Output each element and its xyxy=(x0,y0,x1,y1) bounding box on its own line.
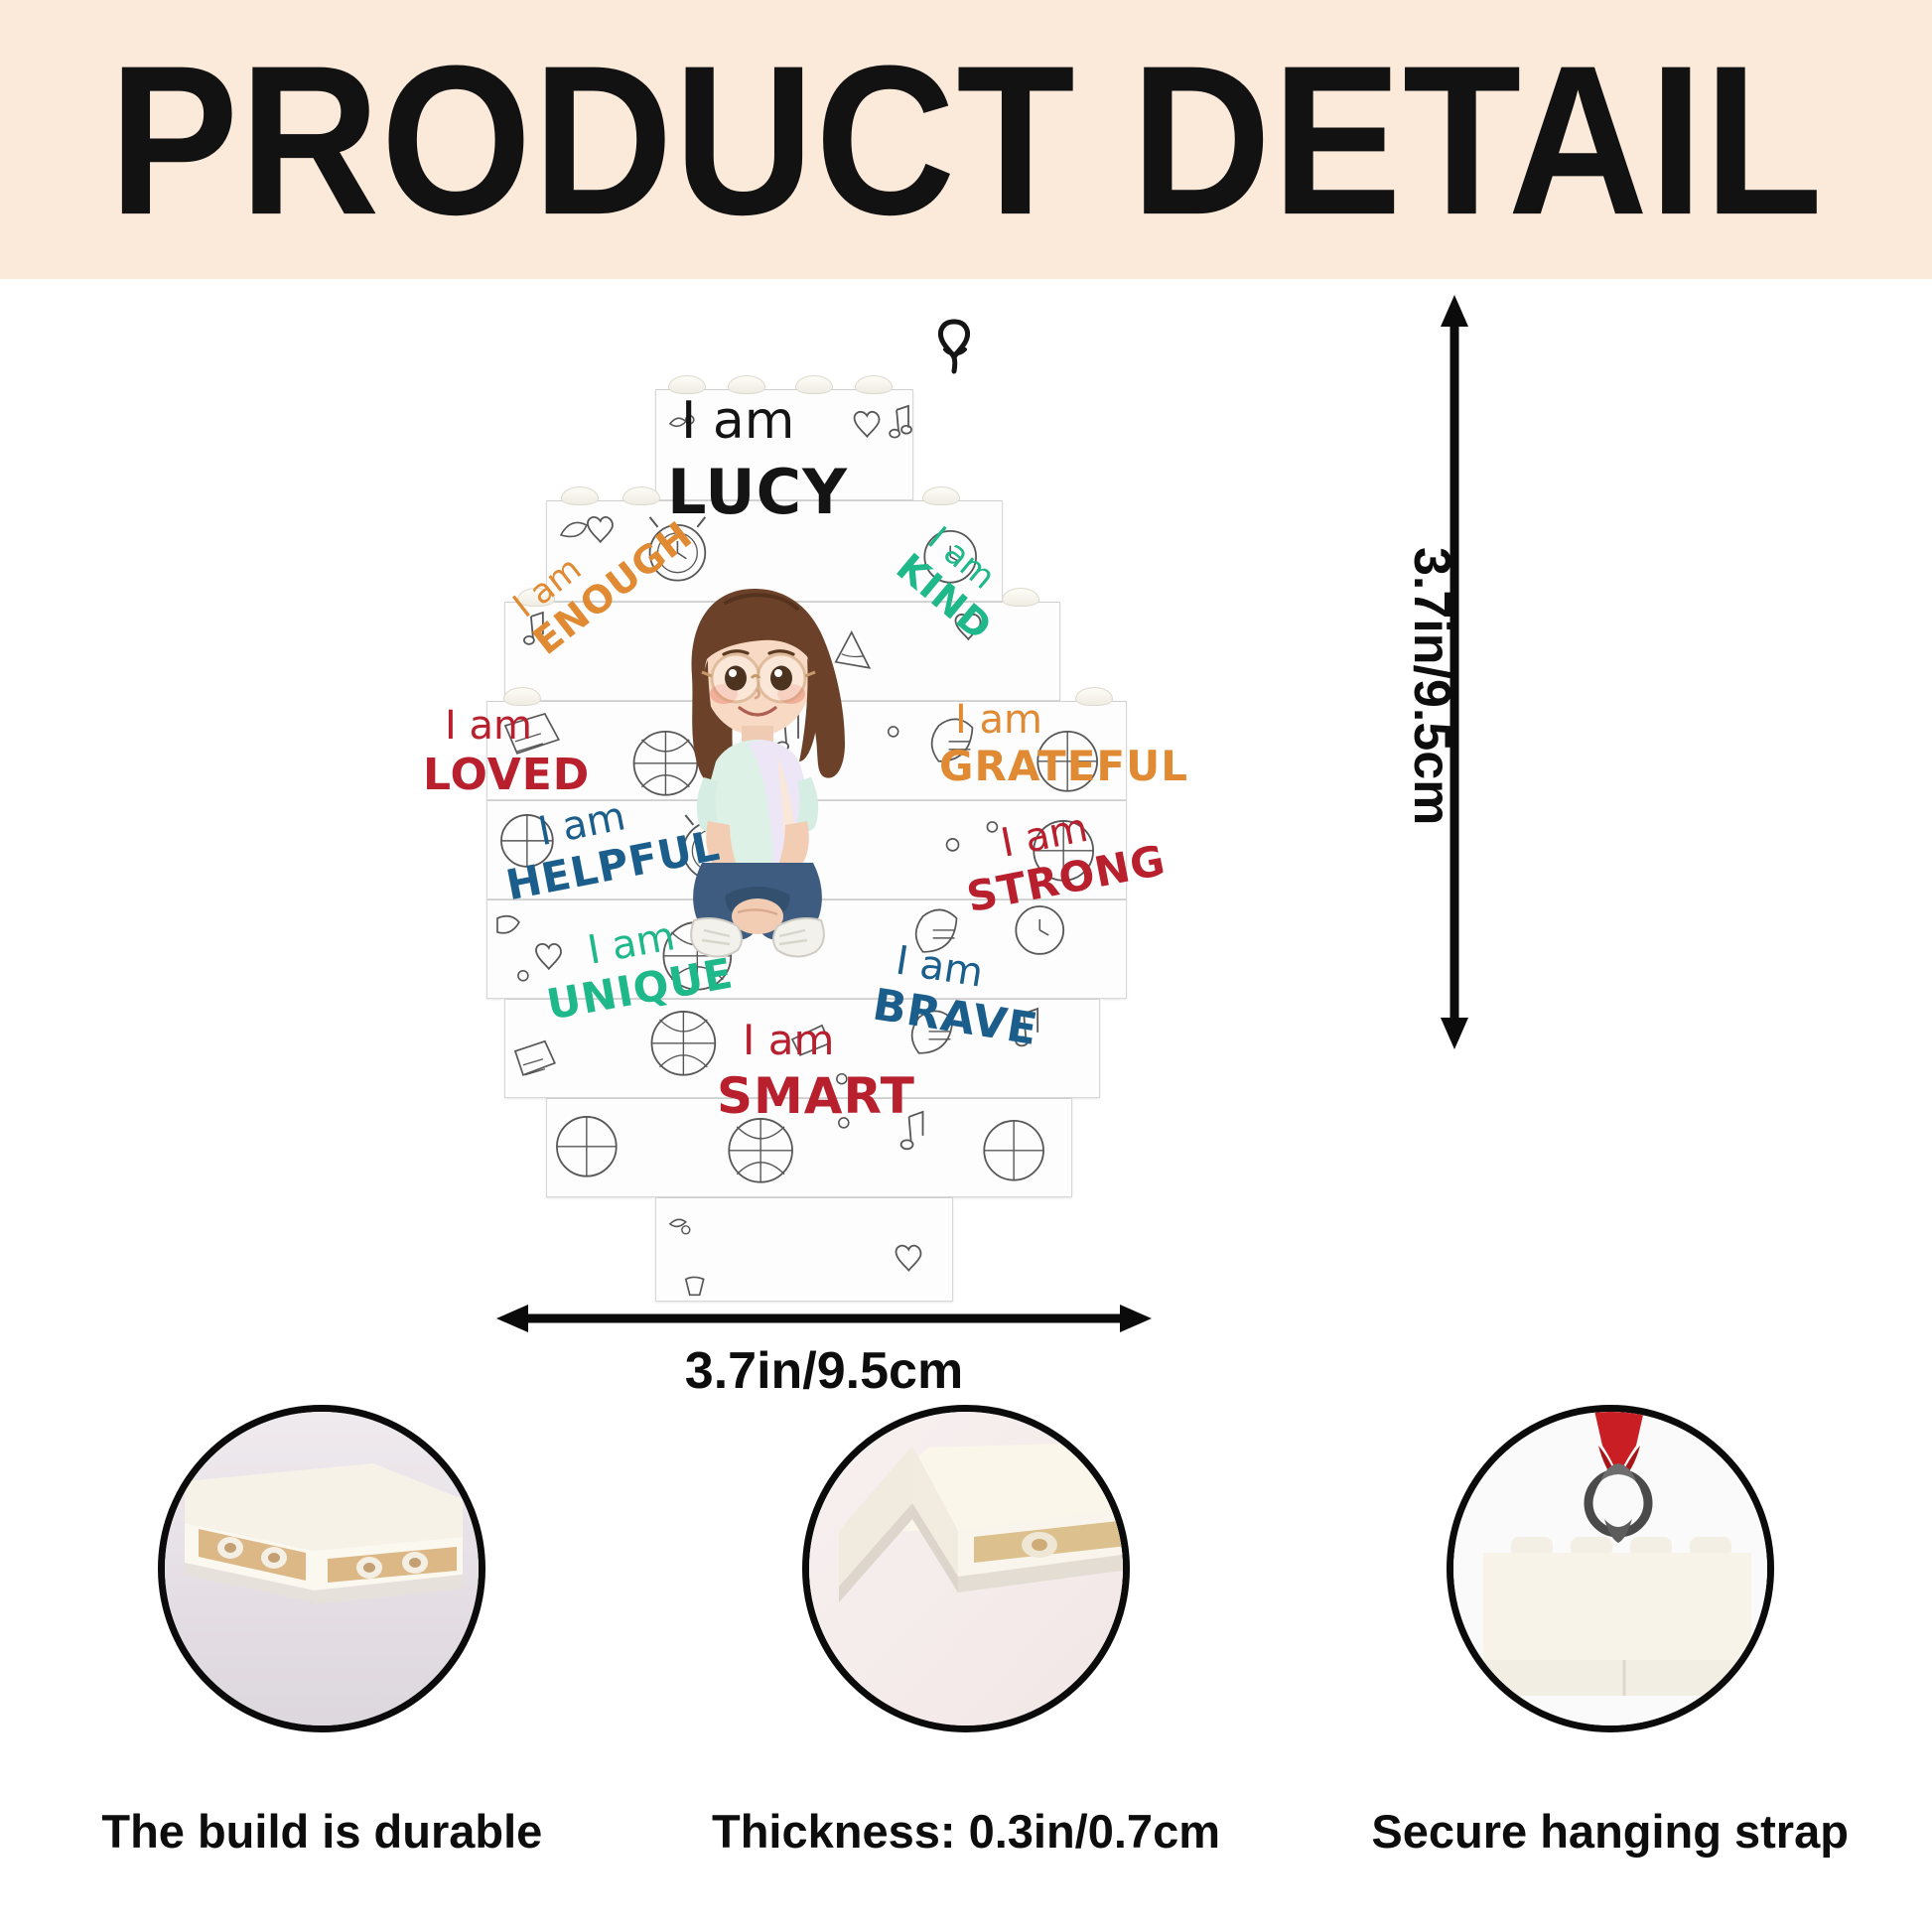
brick-row-8 xyxy=(546,1098,1072,1197)
product-image-area: I am LUCY I am ENOUGH I am KIND I am LOV… xyxy=(0,279,1932,1391)
doodle-layer xyxy=(505,1000,1099,1099)
width-dimension-arrow xyxy=(496,1299,1152,1338)
brick-row-9 xyxy=(655,1197,953,1302)
feature-item-thickness: Thickness: 0.3in/0.7cm xyxy=(644,1405,1289,1921)
child-character-illustration xyxy=(630,567,879,984)
hanging-ring-icon xyxy=(931,318,977,377)
doodle-layer xyxy=(547,1099,1071,1198)
brick-studs xyxy=(656,375,912,391)
feature-caption: Thickness: 0.3in/0.7cm xyxy=(712,1804,1220,1859)
doodle-layer xyxy=(656,390,912,500)
brick-edge-photo xyxy=(802,1405,1130,1732)
width-dimension-label: 3.7in/9.5cm xyxy=(496,1341,1152,1401)
brick-ornament: I am LUCY I am ENOUGH I am KIND I am LOV… xyxy=(486,373,1162,1386)
doodle-layer xyxy=(656,1198,952,1302)
height-dimension-label: 3.7in/9.5cm xyxy=(1402,547,1461,825)
red-strap-ring-photo xyxy=(1447,1405,1774,1732)
feature-strip: The build is durable xyxy=(0,1405,1932,1921)
brick-studs xyxy=(547,486,1002,502)
brick-row-7 xyxy=(504,999,1100,1098)
brick-underside-photo xyxy=(158,1405,485,1732)
header-band: PRODUCT DETAIL xyxy=(0,0,1932,279)
feature-caption: The build is durable xyxy=(101,1804,542,1859)
feature-item-strap: Secure hanging strap xyxy=(1288,1405,1932,1921)
page-title: PRODUCT DETAIL xyxy=(108,33,1823,245)
feature-item-durable: The build is durable xyxy=(0,1405,644,1921)
feature-caption: Secure hanging strap xyxy=(1371,1804,1849,1859)
brick-row-1 xyxy=(655,389,913,500)
